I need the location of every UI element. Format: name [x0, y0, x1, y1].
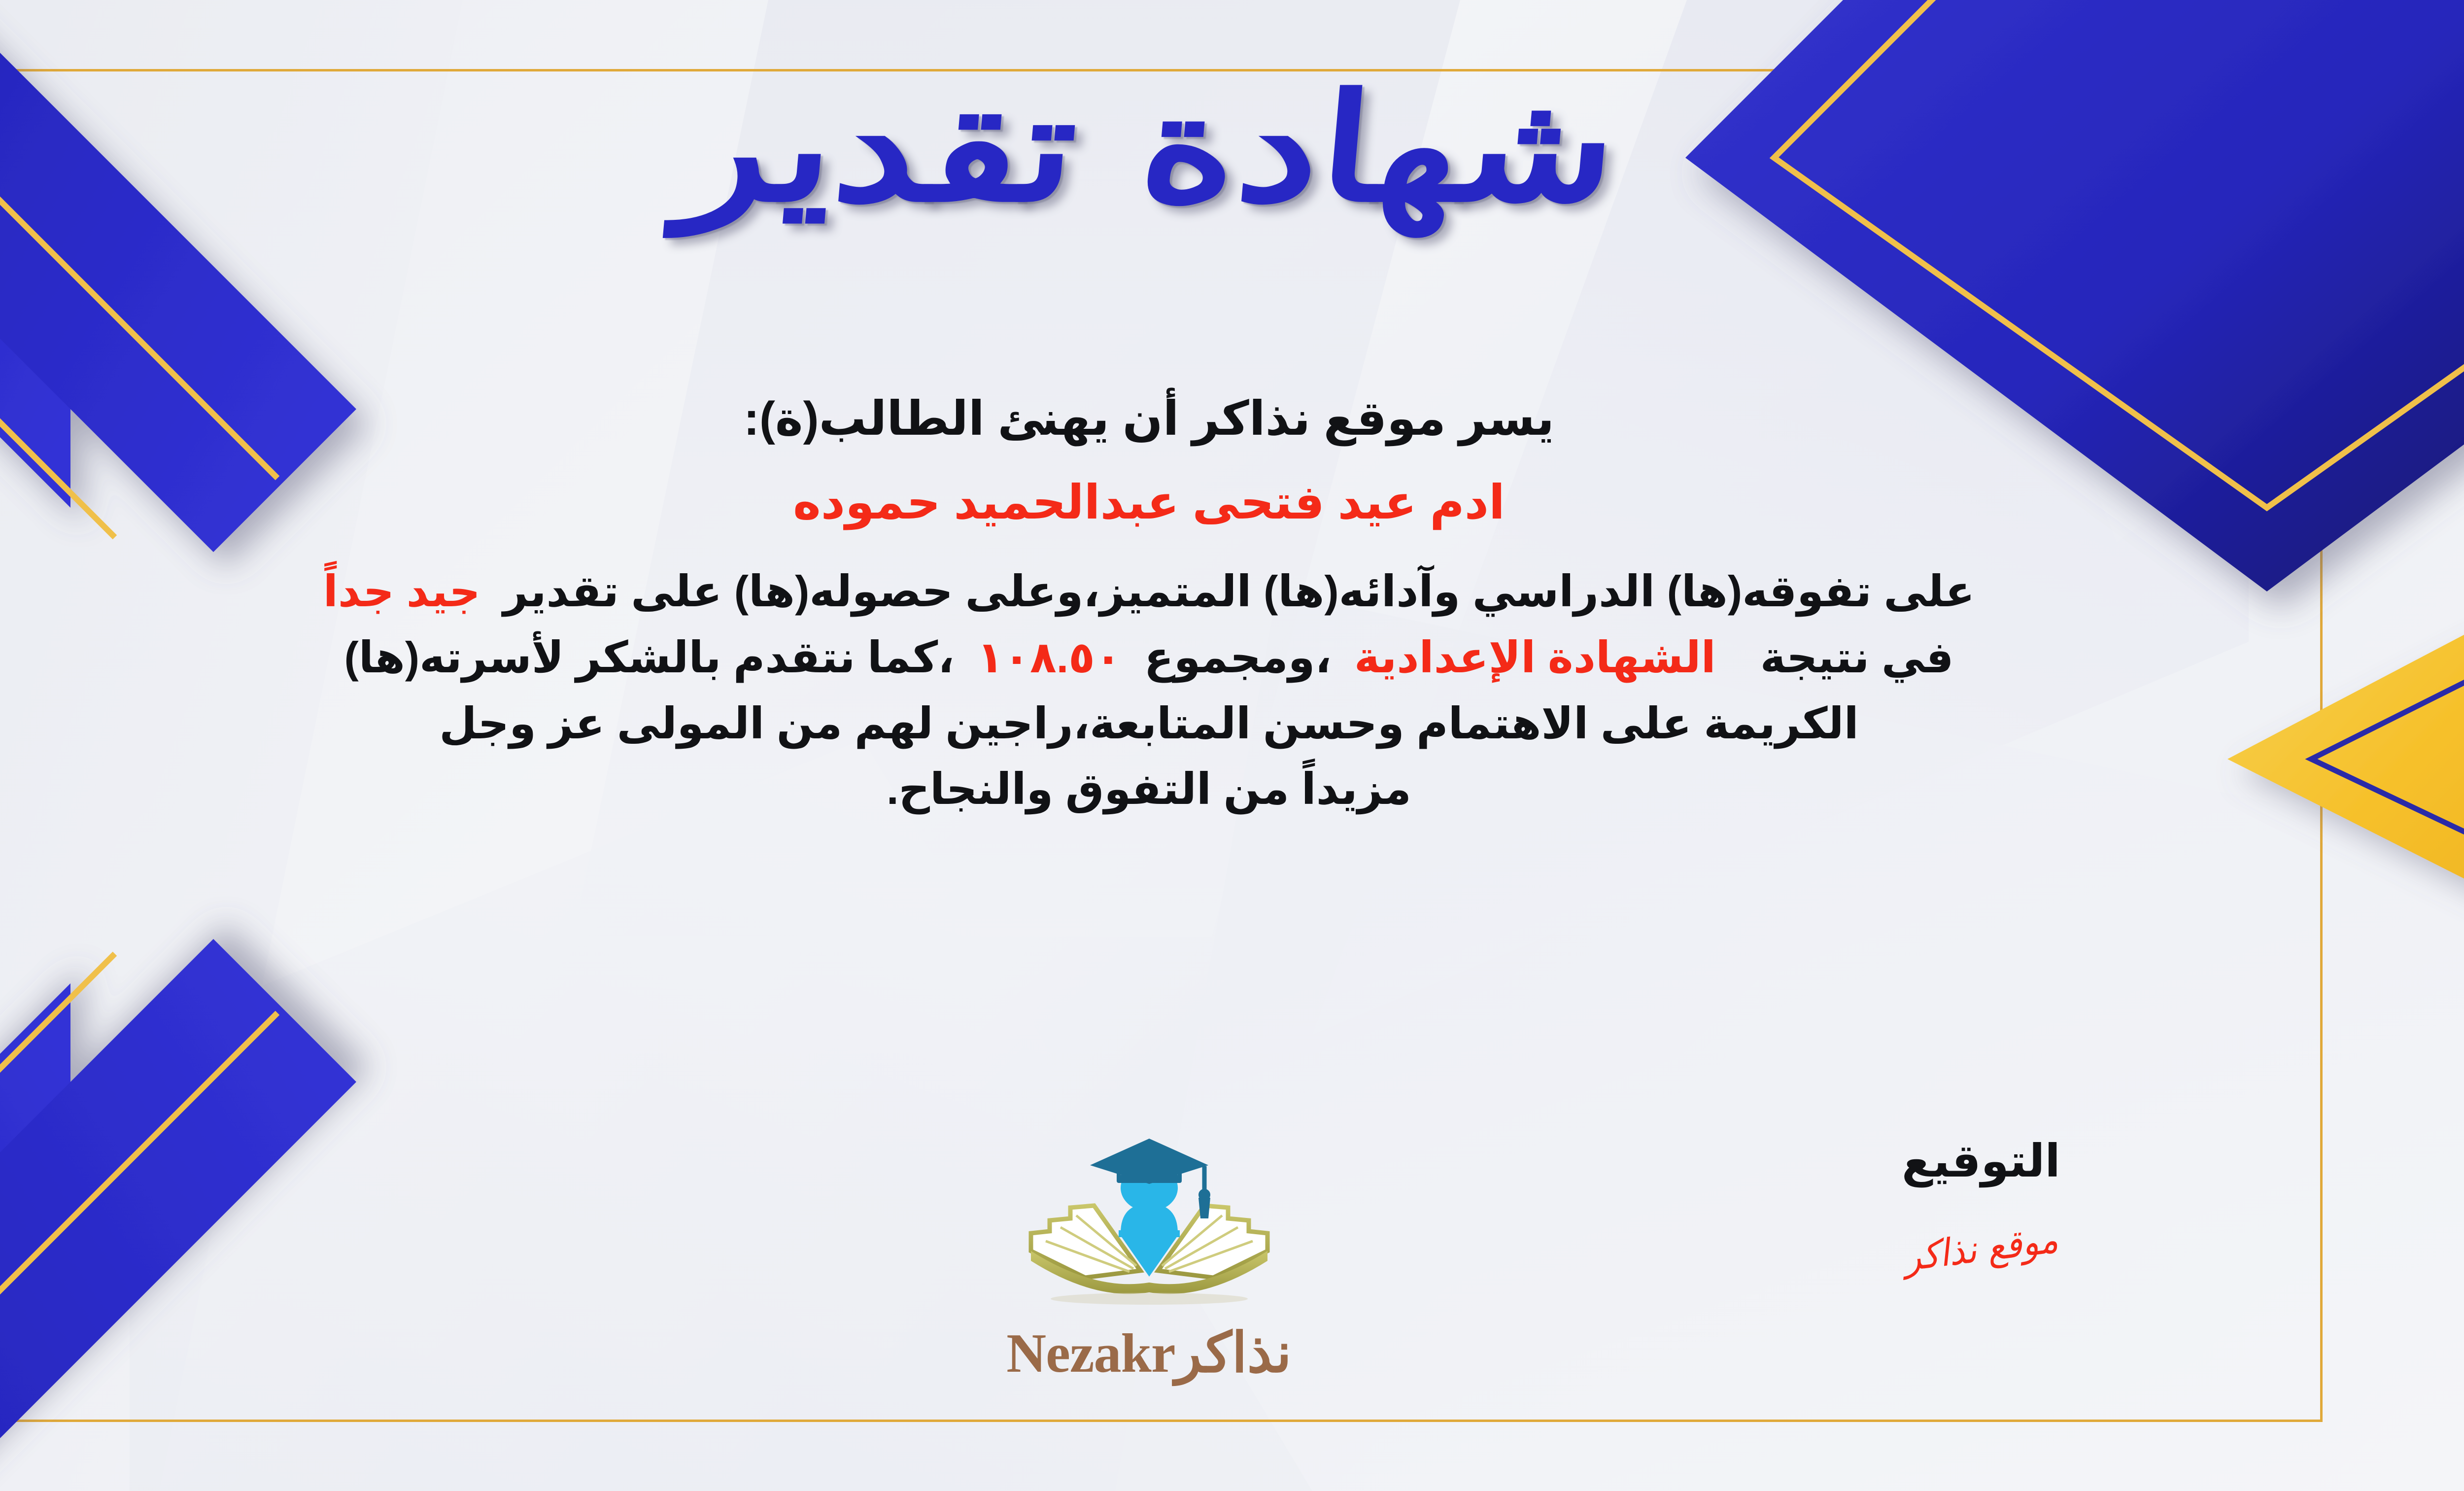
certificate-body: يسر موقع نذاكر أن يهنئ الطالب(ة): ادم عي…: [0, 389, 2301, 822]
logo-wordmark-latin: Nezakr: [1006, 1323, 1175, 1384]
certificate-name: الشهادة الإعدادية: [1354, 633, 1716, 682]
signature-block: التوقيع موقع نذاكر: [1843, 1139, 2119, 1270]
citation-line-2-c: ،كما نتقدم بالشكر لأسرته(ها): [344, 633, 954, 682]
brand-logo: نذاكرNezakr: [967, 1129, 1332, 1386]
citation-paragraph: على تفوقه(ها) الدراسي وآدائه(ها) المتميز…: [0, 558, 2301, 822]
logo-wordmark: نذاكرNezakr: [967, 1321, 1332, 1386]
citation-line-2-b: ،ومجموع: [1144, 633, 1332, 682]
citation-line-2-a: في نتيجة: [1760, 633, 1954, 682]
signature-handwritten: موقع نذاكر: [1902, 1217, 2060, 1280]
total-score: ١٠٨.٥٠: [977, 633, 1122, 682]
page-title: شهادة تقدير: [675, 74, 1623, 222]
citation-line-4: مزيداً من التفوق والنجاح.: [887, 764, 1411, 813]
citation-line-3: الكريمة على الاهتمام وحسن المتابعة،راجين…: [439, 699, 1859, 748]
certificate-title-wrap: شهادة تقدير: [0, 74, 2464, 222]
grade-value: جيد جداً: [323, 567, 480, 616]
signature-label: التوقيع: [1843, 1139, 2119, 1184]
citation-line-1: على تفوقه(ها) الدراسي وآدائه(ها) المتميز…: [503, 567, 1975, 616]
certificate-page: شهادة تقدير يسر موقع نذاكر أن يهنئ الطال…: [0, 0, 2464, 1491]
student-name: ادم عيد فتحى عبدالحميد حموده: [0, 474, 2301, 531]
intro-line: يسر موقع نذاكر أن يهنئ الطالب(ة):: [0, 389, 2301, 449]
graduate-book-icon: [1011, 1129, 1287, 1326]
logo-wordmark-arabic: نذاكر: [1175, 1323, 1292, 1384]
